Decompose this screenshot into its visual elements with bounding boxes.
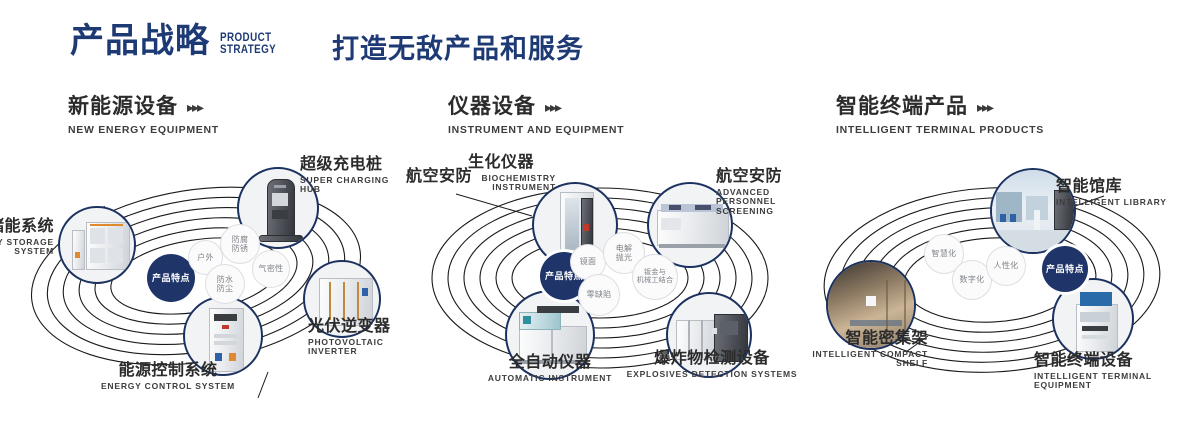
node-label-en: INTELLIGENT TERMINAL EQUIPMENT (1034, 372, 1200, 391)
energy-storage-cabinet-icon (60, 208, 134, 282)
diagram-new-energy: 产品特点 户外 防腐 防锈 防水 防尘 气密性 储能系统 ENERGY STOR… (0, 150, 400, 412)
brand-title-en: PRODUCT STRATEGY (220, 31, 276, 58)
node-label-cn: 超级充电桩 (300, 156, 400, 174)
node-label-en: ENERGY STORAGE SYSTEM (0, 238, 54, 257)
node-label-intelligent-terminal-equipment: 智能终端设备 INTELLIGENT TERMINAL EQUIPMENT (1034, 352, 1200, 391)
node-label-cn: 储能系统 (0, 218, 54, 236)
node-energy-storage-system[interactable] (58, 206, 136, 284)
node-label-aviation-security-left: 航空安防 (406, 168, 472, 186)
diagram-instrument: 产品特点 镜面 电解 抛光 零缺陷 钣金与 机械工结合 航空安防 生化仪器 BI… (400, 150, 800, 412)
node-label-en: ADVANCED PERSONNEL SCREENING (716, 188, 812, 217)
node-label-cn: 智能密集架 (782, 330, 928, 348)
feature-bubble-label: 防水 防尘 (217, 275, 234, 293)
product-strategy-infographic: 产品战略 PRODUCT STRATEGY 打造无敌产品和服务 新能源设备▸▸▸… (0, 0, 1200, 422)
center-bubble: 产品特点 (1042, 246, 1088, 292)
feature-bubble-4: 钣金与 机械工结合 (632, 254, 678, 300)
node-label-explosives-detection-systems: 爆炸物检测设备 EXPLOSIVES DETECTION SYSTEMS (622, 350, 802, 379)
feature-bubble-label: 零缺陷 (587, 290, 612, 299)
section-heading-intelligent-terminal: 智能终端产品▸▸▸ INTELLIGENT TERMINAL PRODUCTS (836, 96, 1044, 136)
node-label-advanced-personnel-screening: 航空安防 ADVANCED PERSONNEL SCREENING (716, 168, 812, 216)
node-label-en: INTELLIGENT COMPACT SHELF (782, 350, 928, 369)
page-headline: 打造无敌产品和服务 (332, 36, 584, 63)
feature-bubble-label: 镜面 (580, 257, 597, 266)
brand-title-cn: 产品战略 (70, 24, 210, 58)
node-label-cn: 爆炸物检测设备 (622, 350, 802, 368)
node-label-intelligent-compact-shelf: 智能密集架 INTELLIGENT COMPACT SHELF (782, 330, 928, 369)
node-label-cn: 能源控制系统 (78, 362, 258, 380)
chevron-right-icon: ▸▸▸ (187, 100, 202, 114)
node-label-cn: 生化仪器 (468, 154, 556, 172)
node-label-en: ENERGY CONTROL SYSTEM (78, 382, 258, 392)
node-label-en: SUPER CHARGING HUB (300, 176, 400, 195)
feature-bubble-label: 数字化 (960, 275, 985, 284)
node-label-energy-storage-system: 储能系统 ENERGY STORAGE SYSTEM (0, 218, 54, 257)
node-label-en: INTELLIGENT LIBRARY (1056, 198, 1167, 208)
feature-bubble-label: 气密性 (259, 264, 284, 273)
feature-bubble-4: 气密性 (252, 250, 290, 288)
brand-title: 产品战略 PRODUCT STRATEGY (70, 24, 288, 58)
feature-bubble-3: 人性化 (986, 246, 1026, 286)
section-heading-cn: 新能源设备 (68, 96, 178, 117)
feature-bubble-3: 防水 防尘 (205, 264, 245, 304)
node-label-en: BIOCHEMISTRY INSTRUMENT (468, 174, 556, 193)
chevron-right-icon: ▸▸▸ (545, 100, 560, 114)
node-label-automatic-instrument: 全自动仪器 AUTOMATIC INSTRUMENT (460, 354, 640, 383)
node-label-energy-control-system: 能源控制系统 ENERGY CONTROL SYSTEM (78, 362, 258, 391)
node-label-en: AUTOMATIC INSTRUMENT (460, 374, 640, 384)
section-heading-en: INSTRUMENT AND EQUIPMENT (448, 124, 624, 136)
node-label-en: EXPLOSIVES DETECTION SYSTEMS (622, 370, 802, 380)
section-heading-cn: 智能终端产品 (836, 96, 968, 117)
brand-title-en-line2: STRATEGY (220, 43, 276, 55)
section-heading-instrument: 仪器设备▸▸▸ INSTRUMENT AND EQUIPMENT (448, 96, 624, 136)
node-label-cn: 智能馆库 (1056, 178, 1167, 196)
section-heading-new-energy: 新能源设备▸▸▸ NEW ENERGY EQUIPMENT (68, 96, 219, 136)
node-label-cn: 智能终端设备 (1034, 352, 1200, 370)
center-bubble-label: 产品特点 (1046, 264, 1084, 274)
node-label-biochemistry-instrument: 生化仪器 BIOCHEMISTRY INSTRUMENT (468, 154, 556, 193)
node-label-photovoltaic-inverter: 光伏逆变器 PHOTOVOLTAIC INVERTER (308, 318, 400, 357)
feature-bubble-label: 户外 (197, 253, 214, 262)
feature-bubble-label: 智慧化 (932, 249, 957, 258)
section-heading-en: NEW ENERGY EQUIPMENT (68, 124, 219, 136)
node-label-cn: 航空安防 (406, 168, 472, 186)
feature-bubble-label: 钣金与 机械工结合 (637, 269, 674, 285)
section-heading-en: INTELLIGENT TERMINAL PRODUCTS (836, 124, 1044, 136)
node-label-cn: 航空安防 (716, 168, 812, 186)
node-label-super-charging-hub: 超级充电桩 SUPER CHARGING HUB (300, 156, 400, 195)
node-label-intelligent-library: 智能馆库 INTELLIGENT LIBRARY (1056, 178, 1167, 207)
feature-bubble-label: 人性化 (994, 261, 1019, 270)
center-bubble-label: 产品特点 (152, 273, 190, 283)
node-label-cn: 全自动仪器 (460, 354, 640, 372)
chevron-right-icon: ▸▸▸ (977, 100, 992, 114)
node-label-en: PHOTOVOLTAIC INVERTER (308, 338, 400, 357)
diagram-intelligent-terminal: 产品特点 智慧化 数字化 人性化 智能馆库 INTELLIGENT LIBRAR… (800, 150, 1200, 412)
feature-bubble-label: 电解 抛光 (616, 244, 633, 262)
node-label-cn: 光伏逆变器 (308, 318, 400, 336)
section-heading-cn: 仪器设备 (448, 96, 536, 117)
feature-bubble-label: 防腐 防锈 (232, 235, 249, 253)
feature-bubble-3: 零缺陷 (578, 274, 620, 316)
